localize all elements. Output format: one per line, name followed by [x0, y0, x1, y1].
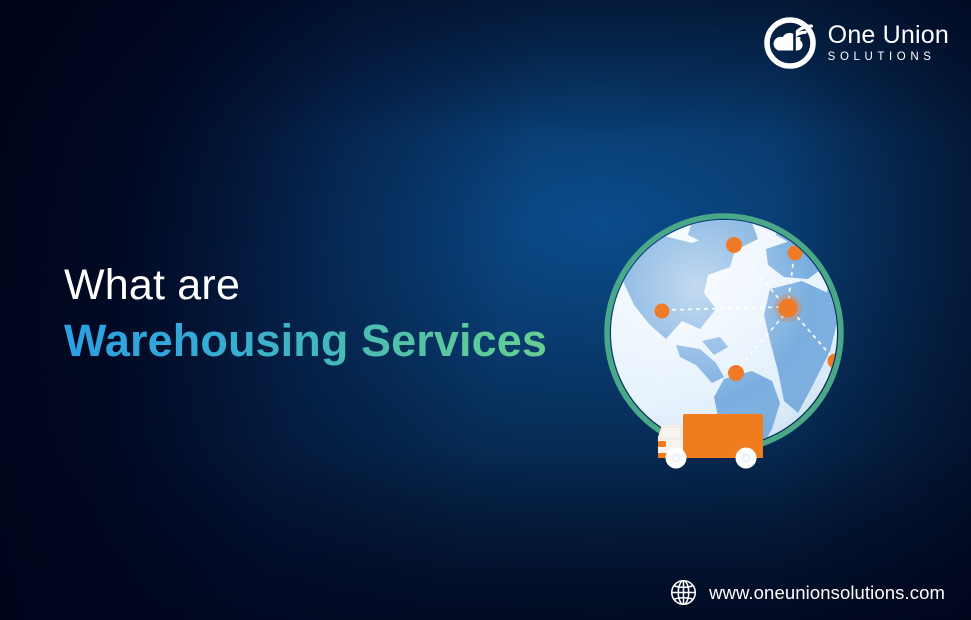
- footer-url-text: www.oneunionsolutions.com: [709, 582, 945, 604]
- globe-marker: [728, 365, 744, 381]
- cloud-signal-circle-icon: [764, 17, 816, 69]
- brand-tagline: SOLUTIONS: [828, 52, 949, 64]
- globe-marker: [726, 237, 742, 253]
- brand-name: One Union: [828, 23, 949, 48]
- banner-root: One Union SOLUTIONS What are Warehousing…: [0, 0, 971, 620]
- brand-logo[interactable]: One Union SOLUTIONS: [764, 17, 949, 69]
- brand-logo-text: One Union SOLUTIONS: [828, 23, 949, 64]
- globe-illustration: [596, 205, 852, 477]
- headline-line-2: Warehousing Services: [64, 316, 547, 366]
- globe-wireframe-icon: [670, 579, 697, 606]
- footer-website[interactable]: www.oneunionsolutions.com: [670, 579, 945, 606]
- headline-line-1: What are: [64, 262, 547, 308]
- headline-block: What are Warehousing Services: [64, 262, 547, 366]
- globe-marker: [655, 304, 670, 319]
- globe-marker-hub: [779, 299, 798, 318]
